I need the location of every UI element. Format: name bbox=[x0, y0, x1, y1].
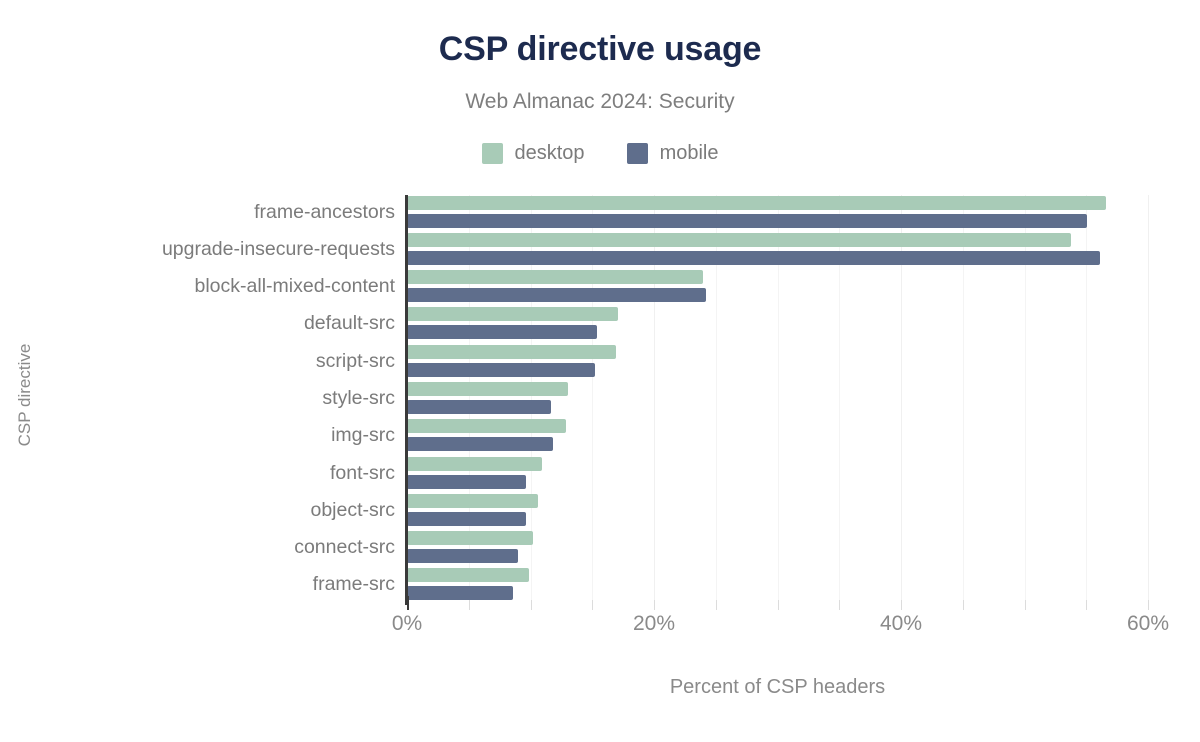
legend-swatch-desktop bbox=[482, 143, 503, 164]
x-tickmark-60 bbox=[1148, 600, 1149, 610]
bar-desktop-frame-ancestors[interactable] bbox=[407, 196, 1106, 210]
x-tick-40: 40% bbox=[880, 612, 922, 636]
bar-desktop-block-all-mixed-content[interactable] bbox=[407, 270, 703, 284]
y-tick-default-src: default-src bbox=[55, 312, 395, 335]
bar-mobile-upgrade-insecure-requests[interactable] bbox=[407, 251, 1100, 265]
bar-desktop-frame-src[interactable] bbox=[407, 568, 529, 582]
x-tickmark-55 bbox=[1086, 600, 1087, 610]
x-tickmark-25 bbox=[716, 600, 717, 610]
bar-desktop-style-src[interactable] bbox=[407, 382, 568, 396]
x-tick-20: 20% bbox=[633, 612, 675, 636]
y-tick-script-src: script-src bbox=[55, 350, 395, 373]
gridline-60 bbox=[1148, 195, 1149, 605]
bar-desktop-connect-src[interactable] bbox=[407, 531, 533, 545]
x-tickmark-35 bbox=[839, 600, 840, 610]
bar-mobile-script-src[interactable] bbox=[407, 363, 595, 377]
bar-desktop-img-src[interactable] bbox=[407, 419, 566, 433]
x-tickmark-5 bbox=[469, 600, 470, 610]
chart-legend: desktopmobile bbox=[0, 142, 1200, 165]
x-tickmark-50 bbox=[1025, 600, 1026, 610]
bar-mobile-frame-src[interactable] bbox=[407, 586, 513, 600]
x-tickmark-45 bbox=[963, 600, 964, 610]
y-tick-frame-ancestors: frame-ancestors bbox=[55, 201, 395, 224]
legend-item-desktop[interactable]: desktop bbox=[482, 142, 585, 165]
x-tickmark-40 bbox=[901, 600, 902, 610]
x-tickmark-15 bbox=[592, 600, 593, 610]
y-tick-object-src: object-src bbox=[55, 499, 395, 522]
bar-group-style-src bbox=[407, 382, 1148, 418]
x-tickmark-0 bbox=[407, 596, 409, 610]
bar-group-font-src bbox=[407, 457, 1148, 493]
y-tick-upgrade-insecure-requests: upgrade-insecure-requests bbox=[55, 238, 395, 261]
y-tick-img-src: img-src bbox=[55, 424, 395, 447]
bar-group-img-src bbox=[407, 419, 1148, 455]
bar-desktop-script-src[interactable] bbox=[407, 345, 616, 359]
page-title: CSP directive usage bbox=[0, 30, 1200, 69]
y-tick-style-src: style-src bbox=[55, 387, 395, 410]
bar-mobile-connect-src[interactable] bbox=[407, 549, 518, 563]
bar-mobile-font-src[interactable] bbox=[407, 475, 526, 489]
y-axis-tick-labels: frame-ancestorsupgrade-insecure-requests… bbox=[55, 195, 395, 605]
bar-group-block-all-mixed-content bbox=[407, 270, 1148, 306]
bar-desktop-upgrade-insecure-requests[interactable] bbox=[407, 233, 1071, 247]
legend-item-mobile[interactable]: mobile bbox=[627, 142, 719, 165]
x-axis-title: Percent of CSP headers bbox=[407, 676, 1148, 699]
y-tick-connect-src: connect-src bbox=[55, 536, 395, 559]
legend-label: mobile bbox=[660, 142, 719, 165]
y-tick-font-src: font-src bbox=[55, 462, 395, 485]
legend-swatch-mobile bbox=[627, 143, 648, 164]
bar-group-object-src bbox=[407, 494, 1148, 530]
legend-label: desktop bbox=[515, 142, 585, 165]
bar-group-upgrade-insecure-requests bbox=[407, 233, 1148, 269]
x-tick-0: 0% bbox=[392, 612, 422, 636]
bar-mobile-default-src[interactable] bbox=[407, 325, 597, 339]
bar-mobile-style-src[interactable] bbox=[407, 400, 551, 414]
bar-desktop-object-src[interactable] bbox=[407, 494, 538, 508]
y-tick-frame-src: frame-src bbox=[55, 573, 395, 596]
bar-group-frame-src bbox=[407, 568, 1148, 604]
bar-group-default-src bbox=[407, 307, 1148, 343]
bar-group-script-src bbox=[407, 345, 1148, 381]
x-tickmark-10 bbox=[531, 600, 532, 610]
bar-mobile-frame-ancestors[interactable] bbox=[407, 214, 1087, 228]
y-axis-line bbox=[405, 195, 408, 605]
bar-mobile-object-src[interactable] bbox=[407, 512, 526, 526]
bar-group-frame-ancestors bbox=[407, 196, 1148, 232]
x-tick-60: 60% bbox=[1127, 612, 1169, 636]
x-tickmark-30 bbox=[778, 600, 779, 610]
bar-desktop-font-src[interactable] bbox=[407, 457, 542, 471]
y-tick-block-all-mixed-content: block-all-mixed-content bbox=[55, 275, 395, 298]
x-axis-tick-labels: 0%20%40%60% bbox=[407, 612, 1148, 642]
plot-area bbox=[407, 195, 1148, 605]
y-axis-title: CSP directive bbox=[15, 315, 35, 475]
chart-subtitle: Web Almanac 2024: Security bbox=[0, 90, 1200, 114]
bar-desktop-default-src[interactable] bbox=[407, 307, 618, 321]
bar-mobile-block-all-mixed-content[interactable] bbox=[407, 288, 706, 302]
x-tickmark-20 bbox=[654, 600, 655, 610]
bar-group-connect-src bbox=[407, 531, 1148, 567]
bar-mobile-img-src[interactable] bbox=[407, 437, 553, 451]
